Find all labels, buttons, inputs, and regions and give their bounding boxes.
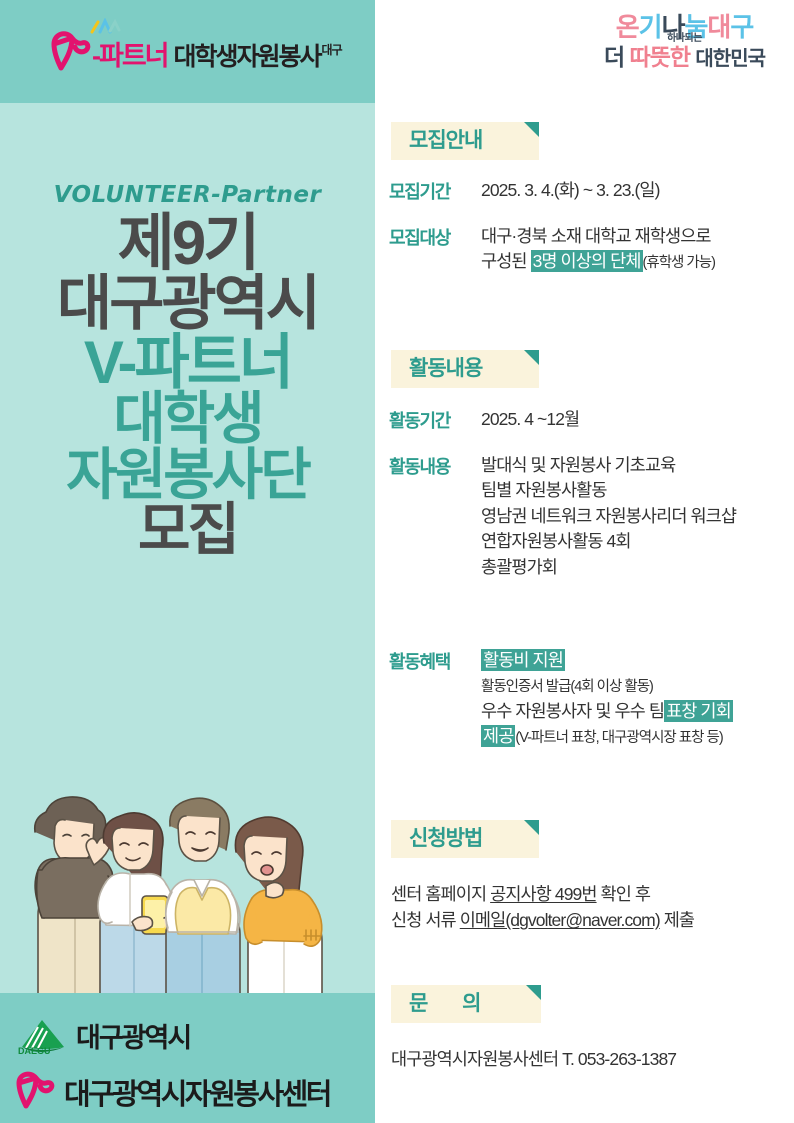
corner-fold-icon bbox=[526, 985, 541, 1000]
title-line-3: V-파트너 bbox=[0, 334, 375, 393]
benefit-item-3-pre: 우수 자원봉사자 및 우수 팀 bbox=[481, 701, 664, 721]
students-illustration bbox=[8, 700, 368, 1000]
benefit-item-1-highlight: 활동비 지원 bbox=[481, 649, 565, 671]
corner-fold-icon bbox=[524, 350, 539, 365]
activity-period-label: 활동기간 bbox=[389, 407, 481, 433]
section-tab-inquiry: 문 의 bbox=[391, 985, 541, 1023]
title-line-2: 대구광역시 bbox=[0, 275, 375, 334]
benefit-item-3-highlight: 표창 기회 bbox=[664, 700, 733, 722]
activity-content-row: 활동내용 발대식 및 자원봉사 기초교육 팀별 자원봉사활동 영남권 네트워크 … bbox=[389, 453, 789, 580]
activity-period-value: 2025. 4 ~12월 bbox=[481, 407, 579, 433]
recruit-rows: 모집기간 2025. 3. 4.(화) ~ 3. 23.(일) 모집대상 대구·… bbox=[389, 178, 789, 275]
title-line-6: 모집 bbox=[0, 503, 375, 559]
recruit-target-label: 모집대상 bbox=[389, 224, 481, 275]
daegu-city-label: 대구광역시 bbox=[76, 1016, 190, 1055]
section-tab-apply-label: 신청방법 bbox=[409, 827, 482, 850]
slogan-line-2: 더 따뜻한 대한민국 bbox=[592, 46, 777, 69]
activity-item: 연합자원봉사활동 4회 bbox=[481, 531, 631, 551]
recruit-target-highlight: 3명 이상의 단체 bbox=[531, 250, 643, 272]
benefit-list: 활동비 지원 활동인증서 발급(4회 이상 활동) 우수 자원봉사자 및 우수 … bbox=[481, 648, 733, 750]
activity-item: 총괄평가회 bbox=[481, 557, 557, 577]
logo-superscript: 대구 bbox=[322, 41, 342, 58]
daegu-triangle-icon: DAEGU bbox=[16, 1017, 68, 1055]
apply-notice-link[interactable]: 공지사항 499번 bbox=[490, 884, 596, 904]
poster-title: 제9기 대구광역시 V-파트너 대학생 자원봉사단 모집 bbox=[0, 214, 375, 559]
benefit-row: 활동혜택 활동비 지원 활동인증서 발급(4회 이상 활동) 우수 자원봉사자 … bbox=[389, 648, 789, 750]
section-tab-apply: 신청방법 bbox=[391, 820, 539, 858]
section-tab-recruit: 모집안내 bbox=[391, 122, 539, 160]
city-slogan-logo: 온기나눔대구 하나되는 더 따뜻한 대한민국 bbox=[592, 14, 777, 90]
sparkle-icon bbox=[88, 18, 122, 41]
volunteer-center-label: 대구광역시자원봉사센터 bbox=[64, 1071, 330, 1113]
inquiry-contact: 대구광역시자원봉사센터 T. 053-263-1387 bbox=[391, 1046, 791, 1072]
recruit-target-line1: 대구·경북 소재 대학교 재학생으로 bbox=[481, 226, 711, 246]
recruit-period-value: 2025. 3. 4.(화) ~ 3. 23.(일) bbox=[481, 178, 660, 204]
activity-period-row: 활동기간 2025. 4 ~12월 bbox=[389, 407, 789, 433]
recruit-target-line2-post: (휴학생 가능) bbox=[643, 255, 715, 271]
recruit-target-value: 대구·경북 소재 대학교 재학생으로 구성된 3명 이상의 단체(휴학생 가능) bbox=[481, 224, 715, 275]
section-tab-activity-label: 활동내용 bbox=[409, 357, 482, 380]
recruit-target-line2-pre: 구성된 bbox=[481, 251, 531, 271]
recruit-period-row: 모집기간 2025. 3. 4.(화) ~ 3. 23.(일) bbox=[389, 178, 789, 204]
title-line-1: 제9기 bbox=[0, 214, 375, 275]
pink-heart-icon bbox=[14, 1068, 60, 1115]
activity-item: 팀별 자원봉사활동 bbox=[481, 480, 607, 500]
corner-fold-icon bbox=[524, 122, 539, 137]
v-partner-logo: -파트너 대학생자원봉사 대구 bbox=[48, 28, 342, 72]
apply-email-link[interactable]: 이메일(dgvolter@naver.com) bbox=[460, 910, 660, 930]
section-tab-activity: 활동내용 bbox=[391, 350, 539, 388]
logo-subtitle: 대학생자원봉사 bbox=[174, 45, 321, 70]
daegu-caption: DAEGU bbox=[18, 1046, 51, 1056]
apply-line-1-post: 확인 후 bbox=[597, 884, 651, 904]
inquiry-body: 대구광역시자원봉사센터 T. 053-263-1387 bbox=[391, 1046, 791, 1072]
benefit-label: 활동혜택 bbox=[389, 648, 481, 750]
daegu-volunteer-center-logo: 대구광역시자원봉사센터 bbox=[14, 1068, 330, 1115]
poster-root: -파트너 대학생자원봉사 대구 온기나눔대구 하나되는 더 따뜻한 대한민국 V… bbox=[0, 0, 794, 1123]
benefit-item-2: 활동인증서 발급(4회 이상 활동) bbox=[481, 679, 653, 695]
apply-line-1-pre: 센터 홈페이지 bbox=[391, 884, 490, 904]
activity-content-label: 활동내용 bbox=[389, 453, 481, 580]
logo-partner-text: -파트너 bbox=[92, 43, 168, 70]
apply-line-2-pre: 신청 서류 bbox=[391, 910, 460, 930]
corner-fold-icon bbox=[524, 820, 539, 835]
activity-rows: 활동기간 2025. 4 ~12월 활동내용 발대식 및 자원봉사 기초교육 팀… bbox=[389, 407, 789, 580]
title-line-4: 대학생 bbox=[0, 392, 375, 448]
activity-content-list: 발대식 및 자원봉사 기초교육 팀별 자원봉사활동 영남권 네트워크 자원봉사리… bbox=[481, 453, 736, 580]
apply-body: 센터 홈페이지 공지사항 499번 확인 후 신청 서류 이메일(dgvolte… bbox=[391, 881, 791, 934]
section-tab-recruit-label: 모집안내 bbox=[409, 129, 482, 152]
eyebrow-text: VOLUNTEER-Partner bbox=[0, 182, 375, 208]
benefit-item-4-highlight: 제공 bbox=[481, 725, 515, 747]
apply-line-2: 신청 서류 이메일(dgvolter@naver.com) 제출 bbox=[391, 907, 791, 933]
benefit-item-4-post: (V-파트너 표창, 대구광역시장 표창 등) bbox=[515, 730, 722, 746]
apply-line-1: 센터 홈페이지 공지사항 499번 확인 후 bbox=[391, 881, 791, 907]
title-line-5: 자원봉사단 bbox=[0, 448, 375, 503]
benefit-rows: 활동혜택 활동비 지원 활동인증서 발급(4회 이상 활동) 우수 자원봉사자 … bbox=[389, 648, 789, 750]
apply-line-2-post: 제출 bbox=[660, 910, 694, 930]
recruit-period-label: 모집기간 bbox=[389, 178, 481, 204]
activity-item: 발대식 및 자원봉사 기초교육 bbox=[481, 455, 675, 475]
daegu-city-logo: DAEGU 대구광역시 bbox=[16, 1016, 190, 1055]
recruit-target-row: 모집대상 대구·경북 소재 대학교 재학생으로 구성된 3명 이상의 단체(휴학… bbox=[389, 224, 789, 275]
section-tab-inquiry-label: 문 의 bbox=[409, 992, 495, 1015]
activity-item: 영남권 네트워크 자원봉사리더 워크샵 bbox=[481, 506, 736, 526]
